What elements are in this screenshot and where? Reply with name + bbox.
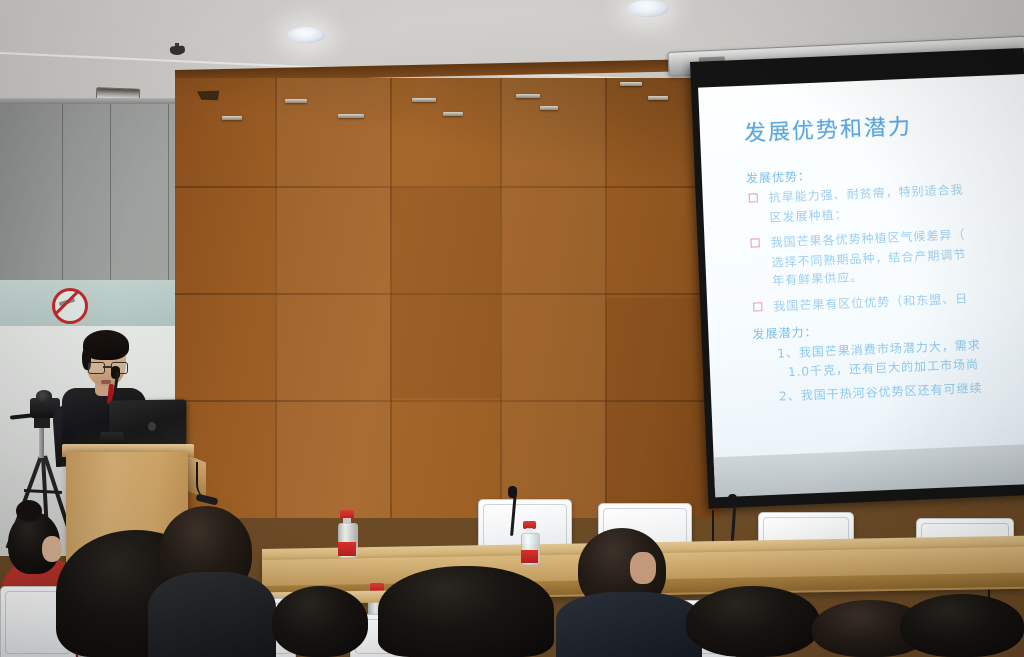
audience-head-foreground — [378, 566, 554, 657]
bottle-label — [338, 542, 356, 556]
wood-seam — [390, 78, 392, 518]
teal-wall-band — [0, 280, 182, 327]
audience-shoulders — [556, 592, 702, 657]
audience-head — [272, 586, 368, 657]
wood-seam — [175, 293, 720, 295]
slide-bullet-text: 我国芒果有区位优势（和东盟、日 — [773, 290, 969, 317]
audience-shoulders — [148, 572, 276, 657]
audience-head — [686, 586, 820, 657]
audience-face — [630, 552, 656, 584]
bullet-square-icon — [753, 302, 762, 311]
photo-scene: 发展优势和潜力 发展优势： 抗旱能力强、耐贫瘠，特别适合我 区发展种植： 我国芒… — [0, 0, 1024, 657]
glasses-bridge — [103, 366, 111, 368]
slide-content: 发展优势和潜力 发展优势： 抗旱能力强、耐贫瘠，特别适合我 区发展种植： 我国芒… — [698, 74, 1024, 487]
wood-panel — [500, 78, 605, 518]
tripod-column — [39, 426, 44, 458]
gray-wall-panels — [0, 104, 182, 284]
ceiling-light-icon — [627, 0, 669, 17]
wood-wall — [175, 78, 720, 518]
wood-seam — [175, 400, 720, 402]
wall-hook-icon — [285, 99, 307, 103]
wall-hook-icon — [516, 94, 540, 98]
slide-title: 发展优势和潜力 — [743, 104, 1024, 148]
wood-seam — [275, 78, 277, 518]
audience-face — [42, 536, 62, 562]
wall-hook-icon — [222, 116, 242, 120]
audience-hair-bun — [16, 500, 42, 522]
wall-seam — [62, 104, 63, 284]
wall-hook-icon — [540, 106, 558, 110]
no-smoking-icon — [52, 288, 88, 324]
glasses-lens — [88, 362, 105, 374]
cable — [196, 462, 214, 498]
ceiling-light-icon — [287, 27, 325, 43]
wall-seam — [168, 104, 169, 284]
eyeglasses-icon — [88, 362, 126, 373]
camera-lens-icon — [36, 390, 52, 402]
wood-seam — [605, 78, 607, 518]
wall-hook-icon — [412, 98, 436, 102]
wood-seam — [500, 78, 502, 518]
wall-hook-icon — [338, 114, 364, 118]
laptop-logo-icon — [148, 422, 156, 431]
wall-hook-icon — [620, 82, 642, 86]
projection-screen: 发展优势和潜力 发展优势： 抗旱能力强、耐贫瘠，特别适合我 区发展种植： 我国芒… — [690, 48, 1024, 509]
bullet-square-icon — [750, 238, 759, 247]
wood-panel — [275, 78, 390, 518]
wall-hook-icon — [443, 112, 463, 116]
wall-seam — [110, 104, 111, 284]
gooseneck-mic-head — [728, 494, 737, 506]
wall-hook-icon — [648, 96, 668, 100]
bottle-label — [521, 550, 538, 563]
wood-seam — [175, 186, 720, 188]
gooseneck-mic-head — [508, 486, 517, 498]
projection-surface: 发展优势和潜力 发展优势： 抗旱能力强、耐贫瘠，特别适合我 区发展种植： 我国芒… — [698, 74, 1024, 487]
slide-bullet: 我国芒果有区位优势（和东盟、日 — [751, 287, 1024, 318]
audience-head — [900, 594, 1024, 657]
bullet-square-icon — [749, 193, 758, 202]
